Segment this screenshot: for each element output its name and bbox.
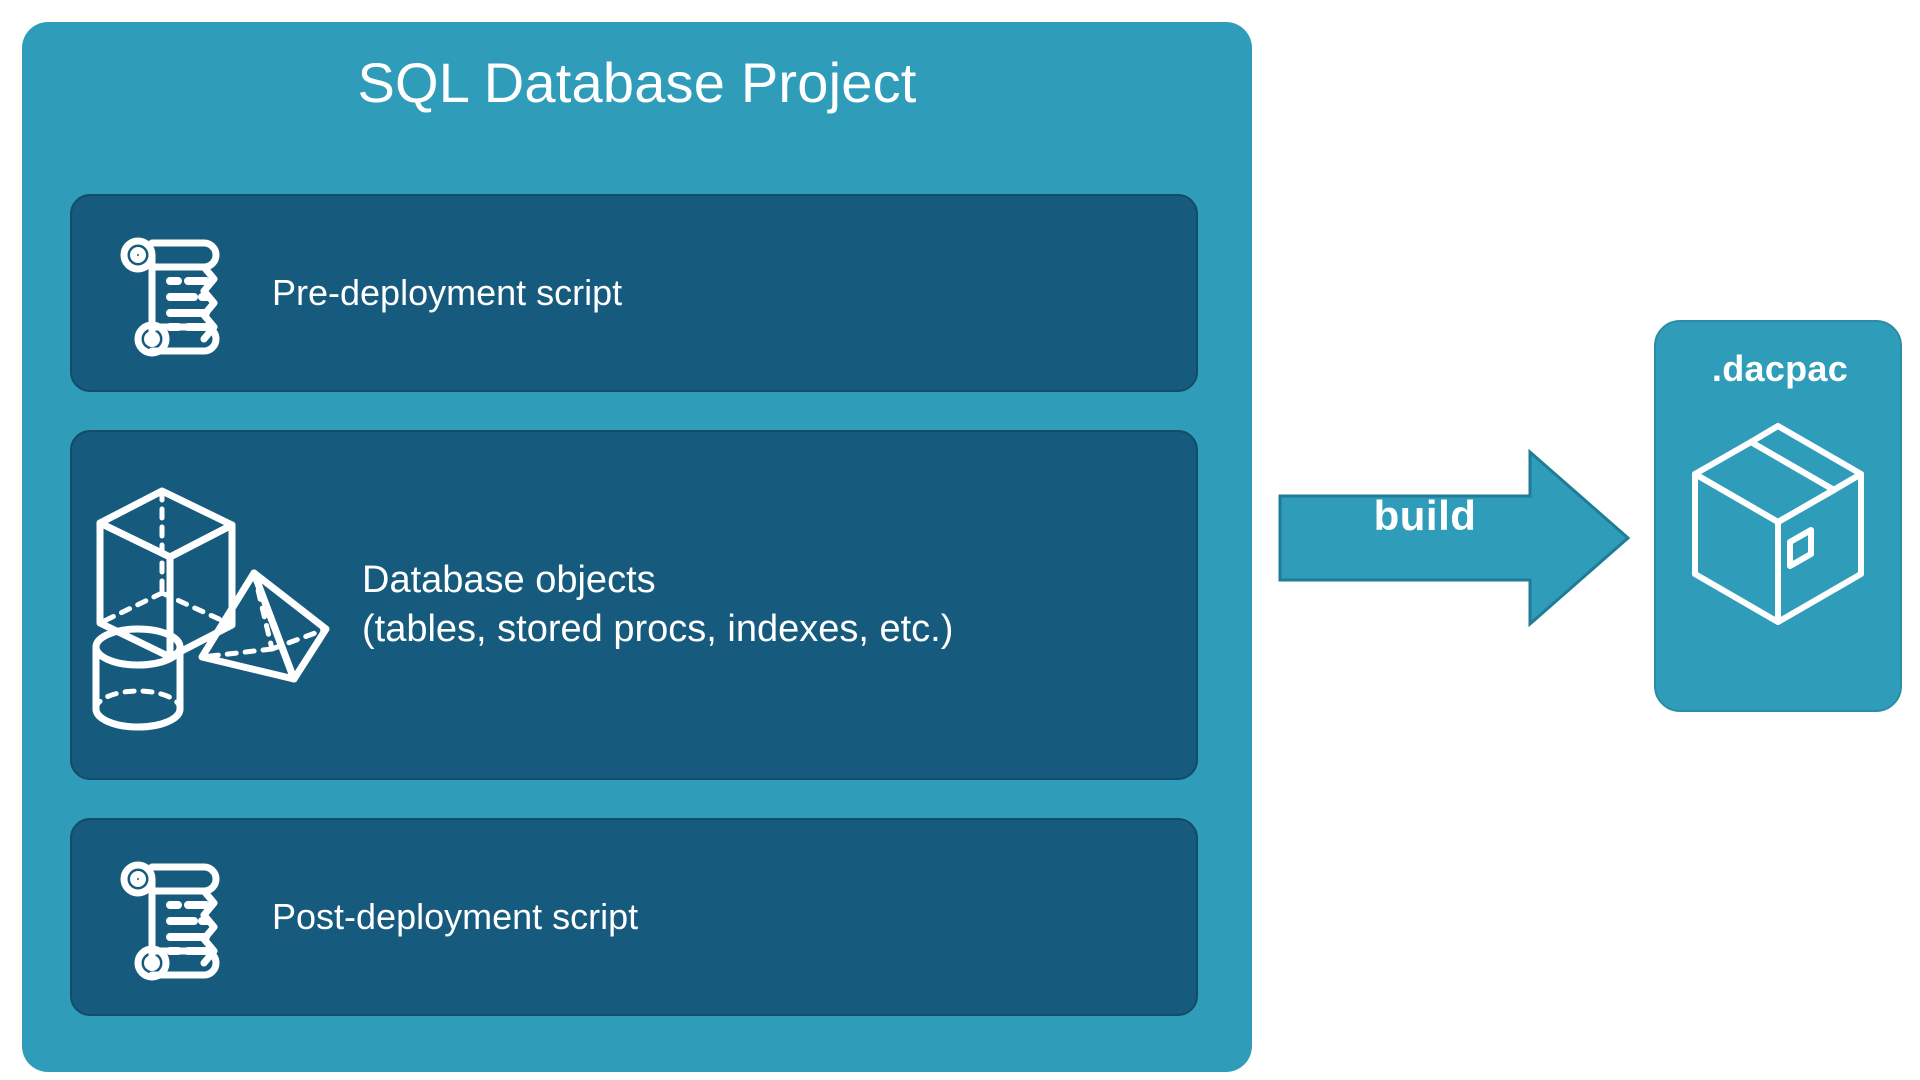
card-database-objects-label: Database objects (tables, stored procs, …	[362, 556, 953, 653]
scroll-icon	[72, 223, 272, 363]
right-arrow-icon	[1278, 448, 1630, 628]
project-title: SQL Database Project	[22, 52, 1252, 114]
card-pre-deployment-label: Pre-deployment script	[272, 270, 622, 316]
card-post-deployment-label: Post-deployment script	[272, 894, 638, 940]
pyramid-icon	[202, 573, 326, 679]
database-objects-icon-group	[72, 475, 362, 735]
package-box-icon	[1689, 418, 1867, 630]
card-post-deployment-script[interactable]: Post-deployment script	[70, 818, 1198, 1016]
card-pre-deployment-script[interactable]: Pre-deployment script	[70, 194, 1198, 392]
card-database-objects[interactable]: Database objects (tables, stored procs, …	[70, 430, 1198, 780]
dacpac-label: .dacpac	[1656, 348, 1904, 390]
dacpac-output-card[interactable]: .dacpac	[1654, 320, 1902, 712]
scroll-icon	[72, 847, 272, 987]
sql-database-project-container: SQL Database Project	[22, 22, 1252, 1072]
diagram-canvas: SQL Database Project	[0, 0, 1920, 1080]
